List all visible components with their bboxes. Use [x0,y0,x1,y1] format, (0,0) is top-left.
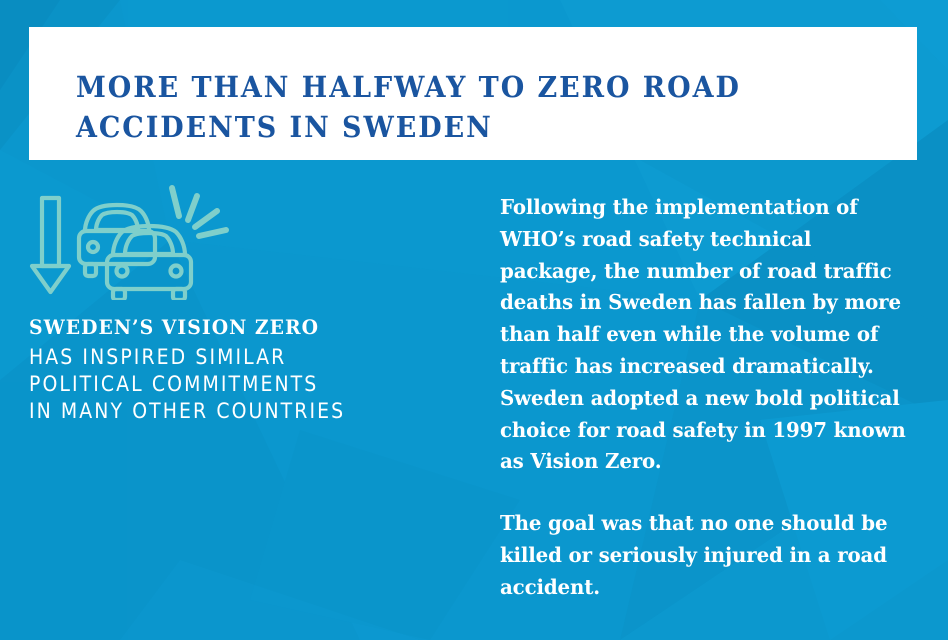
down-arrow-icon [32,198,69,292]
left-kicker-heading: Sweden’s Vision Zero [29,314,452,340]
page-title: More than halfway to zero road accidents… [76,67,820,147]
body-paragraph: Following the implementation of WHO’s ro… [500,192,910,478]
left-column: Sweden’s Vision Zero Has inspired simila… [29,182,479,425]
body-paragraph: The goal was that no one should be kille… [500,508,910,603]
impact-lines-icon [172,188,226,236]
title-card: More than halfway to zero road accidents… [29,27,917,160]
content-area: Sweden’s Vision Zero Has inspired simila… [0,160,948,640]
left-subcopy: Has inspired similar political commitmen… [29,344,434,425]
icon-graphic [29,182,239,300]
right-column: Following the implementation of WHO’s ro… [500,192,925,604]
car-crash-decrease-icon [29,182,239,300]
infographic-poster: More than halfway to zero road accidents… [0,0,948,640]
